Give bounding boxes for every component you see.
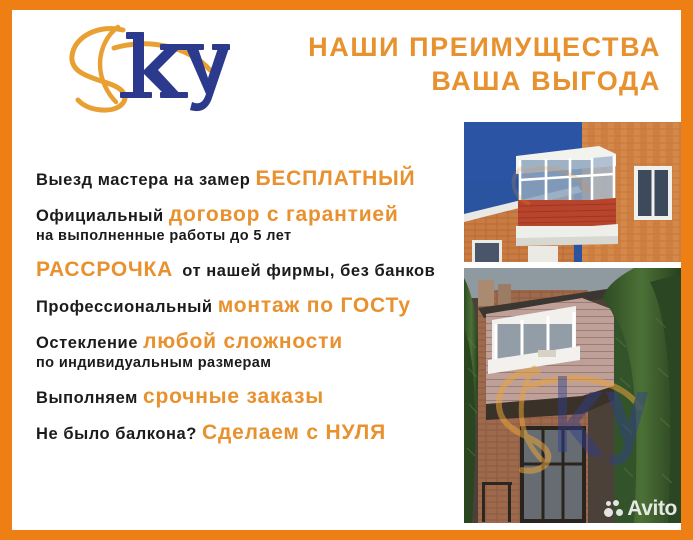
- benefit-plain-before: Официальный: [36, 207, 164, 225]
- benefit-plain-before: Выполняем: [36, 389, 138, 407]
- benefit-accent: монтаж по ГОСТу: [218, 294, 411, 317]
- avito-wordmark: Avito: [627, 498, 677, 519]
- benefit-item: Не было балкона? Сделаем с НУЛЯ: [36, 422, 466, 445]
- benefit-accent: договор с гарантией: [169, 203, 399, 226]
- poster-header: НАШИ ПРЕИМУЩЕСТВА ВАША ВЫГОДА: [12, 10, 681, 118]
- benefits-list: Выезд мастера на замер БЕСПЛАТНЫЙ Официа…: [36, 168, 466, 445]
- benefit-plain-after: от нашей фирмы, без банков: [182, 262, 435, 280]
- photo-glazed-balcony-brick-building: [464, 122, 681, 262]
- benefit-item: Выполняем срочные заказы: [36, 386, 466, 409]
- benefit-plain-before: Остекление: [36, 334, 138, 352]
- benefit-accent: БЕСПЛАТНЫЙ: [255, 167, 415, 190]
- headline-line-2: ВАША ВЫГОДА: [231, 64, 661, 98]
- benefit-main-line: Официальный договор с гарантией: [36, 204, 466, 227]
- benefit-accent: срочные заказы: [143, 385, 324, 408]
- benefit-main-line: Выполняем срочные заказы: [36, 386, 466, 409]
- benefit-accent: РАССРОЧКА: [36, 258, 173, 281]
- avito-watermark: Avito: [604, 498, 677, 519]
- benefit-item: Выезд мастера на замер БЕСПЛАТНЫЙ: [36, 168, 466, 191]
- photo-balcony-siding-with-trees: Avito: [464, 268, 681, 523]
- benefit-item: Остекление любой сложности по индивидуал…: [36, 331, 466, 373]
- benefit-main-line: Остекление любой сложности: [36, 331, 466, 354]
- benefit-main-line: РАССРОЧКА от нашей фирмы, без банков: [36, 259, 466, 282]
- benefit-main-line: Не было балкона? Сделаем с НУЛЯ: [36, 422, 466, 445]
- page-title: НАШИ ПРЕИМУЩЕСТВА ВАША ВЫГОДА: [231, 30, 661, 98]
- benefit-sub-line: по индивидуальным размерам: [36, 354, 466, 373]
- benefit-accent: Сделаем с НУЛЯ: [202, 421, 386, 444]
- benefit-item: РАССРОЧКА от нашей фирмы, без банков: [36, 259, 466, 282]
- benefit-main-line: Профессиональный монтаж по ГОСТу: [36, 295, 466, 318]
- benefit-accent: любой сложности: [143, 330, 343, 353]
- headline-line-1: НАШИ ПРЕИМУЩЕСТВА: [231, 30, 661, 64]
- advertisement-poster: НАШИ ПРЕИМУЩЕСТВА ВАША ВЫГОДА Выезд маст…: [0, 0, 693, 540]
- benefit-plain-before: Не было балкона?: [36, 425, 197, 443]
- benefit-main-line: Выезд мастера на замер БЕСПЛАТНЫЙ: [36, 168, 466, 191]
- benefit-sub-line: на выполненные работы до 5 лет: [36, 227, 466, 246]
- benefit-plain-before: Профессиональный: [36, 298, 213, 316]
- poster-canvas: НАШИ ПРЕИМУЩЕСТВА ВАША ВЫГОДА Выезд маст…: [12, 10, 681, 530]
- avito-dots-icon: [604, 499, 624, 519]
- benefit-item: Официальный договор с гарантией на выпол…: [36, 204, 466, 246]
- benefit-plain-before: Выезд мастера на замер: [36, 171, 250, 189]
- benefit-item: Профессиональный монтаж по ГОСТу: [36, 295, 466, 318]
- sky-logo: [60, 18, 230, 114]
